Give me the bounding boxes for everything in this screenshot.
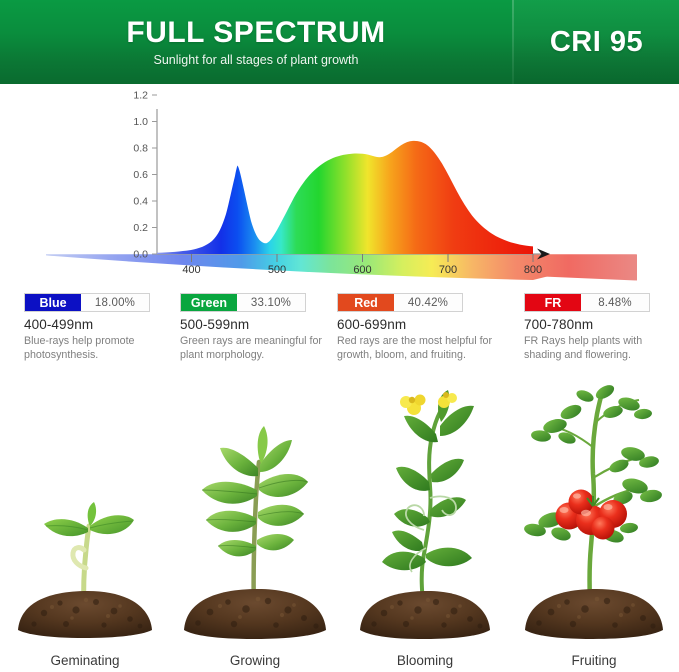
legend-band-description: FR Rays help plants with shading and flo…: [524, 335, 674, 362]
legend-band-percent: 8.48%: [581, 294, 649, 311]
stage-label: Fruiting: [509, 653, 679, 668]
header-right-block: CRI 95: [514, 0, 679, 84]
y-axis-tick-labels: 0.0 0.2 0.4 0.6 0.8 1.0 1.2: [133, 90, 148, 261]
spectrum-curve-area: [157, 141, 533, 254]
legend-chip: Blue 18.00%: [24, 293, 150, 312]
legend-band-red: Red 40.42% 600-699nm Red rays are the mo…: [337, 293, 505, 362]
legend-band-description: Red rays are the most helpful for growth…: [337, 335, 505, 362]
flower: [400, 395, 426, 416]
spectrum-chart-canvas: 0.0 0.2 0.4 0.6 0.8 1.0 1.2 400 500 600 …: [0, 84, 679, 289]
spectrum-legend: Blue 18.00% 400-499nm Blue-rays help pro…: [0, 293, 679, 373]
x-tick-label: 500: [268, 264, 286, 276]
y-tick-label: 0.8: [133, 143, 148, 155]
x-tick-label: 800: [524, 264, 542, 276]
header-banner: FULL SPECTRUM Sunlight for all stages of…: [0, 0, 679, 84]
y-axis-ticks: [152, 95, 157, 254]
stage-geminating: Geminating: [0, 376, 170, 672]
seedling-icon: [0, 378, 170, 640]
legend-band-range: 700-780nm: [524, 317, 674, 332]
growth-stages: Geminating: [0, 376, 679, 672]
y-tick-label: 1.2: [133, 90, 148, 102]
legend-band-range: 600-699nm: [337, 317, 505, 332]
legend-band-green: Green 33.10% 500-599nm Green rays are me…: [180, 293, 330, 362]
legend-band-percent: 33.10%: [237, 294, 305, 311]
stage-fruiting: Fruiting: [509, 376, 679, 672]
legend-chip: FR 8.48%: [524, 293, 650, 312]
legend-band-range: 400-499nm: [24, 317, 174, 332]
legend-band-blue: Blue 18.00% 400-499nm Blue-rays help pro…: [24, 293, 174, 362]
x-tick-label: 700: [439, 264, 457, 276]
legend-chip: Green 33.10%: [180, 293, 306, 312]
y-tick-label: 0.0: [133, 249, 148, 261]
stage-blooming: Blooming: [340, 376, 510, 672]
y-tick-label: 0.2: [133, 222, 148, 234]
page-subtitle: Sunlight for all stages of plant growth: [154, 52, 359, 68]
fruiting-plant-icon: [509, 378, 679, 640]
y-tick-label: 1.0: [133, 116, 148, 128]
legend-band-fr: FR 8.48% 700-780nm FR Rays help plants w…: [524, 293, 674, 362]
young-plant-icon: [170, 378, 340, 640]
stage-label: Growing: [170, 653, 340, 668]
legend-band-name: Green: [181, 294, 237, 311]
stage-label: Blooming: [340, 653, 510, 668]
x-tick-label: 400: [182, 264, 200, 276]
legend-band-name: Blue: [25, 294, 81, 311]
page-title: FULL SPECTRUM: [126, 16, 385, 50]
legend-chip: Red 40.42%: [337, 293, 463, 312]
legend-band-name: FR: [525, 294, 581, 311]
legend-band-description: Blue-rays help promote photosynthesis.: [24, 335, 174, 362]
legend-band-percent: 40.42%: [394, 294, 462, 311]
legend-band-range: 500-599nm: [180, 317, 330, 332]
y-tick-label: 0.4: [133, 196, 148, 208]
flowering-plant-icon: [340, 378, 510, 640]
stage-growing: Growing: [170, 376, 340, 672]
legend-band-percent: 18.00%: [81, 294, 149, 311]
y-tick-label: 0.6: [133, 169, 148, 181]
stage-label: Geminating: [0, 653, 170, 668]
cri-badge: CRI 95: [550, 26, 643, 59]
header-left-block: FULL SPECTRUM Sunlight for all stages of…: [0, 0, 512, 84]
spectrum-chart: 0.0 0.2 0.4 0.6 0.8 1.0 1.2 400 500 600 …: [0, 84, 679, 289]
legend-band-description: Green rays are meaningful for plant morp…: [180, 335, 330, 362]
legend-band-name: Red: [338, 294, 394, 311]
x-tick-label: 600: [353, 264, 371, 276]
